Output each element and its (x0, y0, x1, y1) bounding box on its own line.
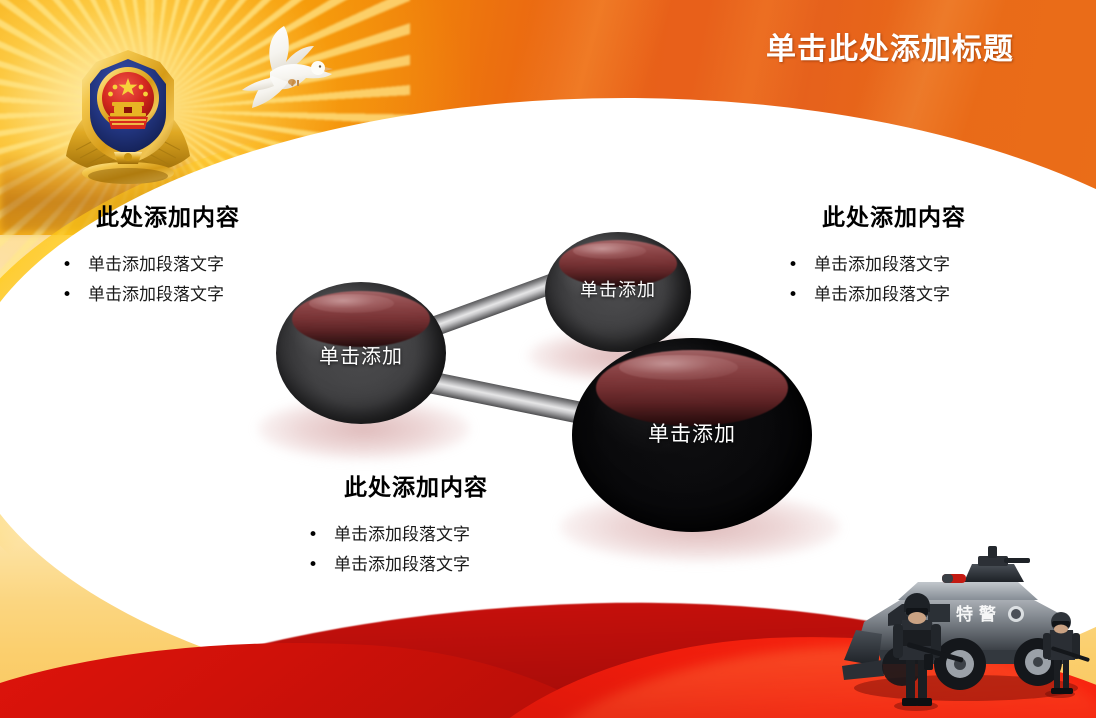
bullet-icon: • (308, 550, 334, 580)
list-item[interactable]: • 单击添加段落文字 (788, 250, 966, 280)
sphere-gloss-highlight (596, 350, 788, 426)
bullet-icon: • (788, 250, 814, 280)
list-item-label: 单击添加段落文字 (334, 520, 470, 550)
content-list-bottom: • 单击添加段落文字 • 单击添加段落文字 (308, 520, 488, 580)
bullet-icon: • (62, 280, 88, 310)
list-item-label: 单击添加段落文字 (88, 280, 224, 310)
armored-police-vehicle-image: 特 警 (838, 538, 1096, 718)
content-list-right: • 单击添加段落文字 • 单击添加段落文字 (788, 250, 966, 310)
content-block-bottom: 此处添加内容 • 单击添加段落文字 • 单击添加段落文字 (344, 468, 488, 580)
list-item[interactable]: • 单击添加段落文字 (308, 550, 488, 580)
list-item-label: 单击添加段落文字 (334, 550, 470, 580)
sphere-node-bottom-right[interactable]: 单击添加 (572, 338, 812, 532)
content-heading-left: 此处添加内容 (96, 198, 240, 232)
sphere-node-left[interactable]: 单击添加 (276, 282, 446, 424)
sphere-label-bottom-right: 单击添加 (572, 418, 812, 448)
bullet-icon: • (308, 520, 334, 550)
bullet-icon: • (62, 250, 88, 280)
svg-text:特 警: 特 警 (956, 604, 996, 625)
content-block-right: 此处添加内容 • 单击添加段落文字 • 单击添加段落文字 (822, 198, 966, 310)
content-heading-right: 此处添加内容 (822, 198, 966, 232)
list-item-label: 单击添加段落文字 (814, 280, 950, 310)
presentation-slide: 单击此处添加标题 单击添加 单击添加 单击添加 此处添加内容 • (0, 0, 1096, 718)
list-item-label: 单击添加段落文字 (814, 250, 950, 280)
list-item-label: 单击添加段落文字 (88, 250, 224, 280)
list-item[interactable]: • 单击添加段落文字 (308, 520, 488, 550)
bullet-icon: • (788, 280, 814, 310)
content-heading-bottom: 此处添加内容 (344, 468, 488, 502)
content-list-left: • 单击添加段落文字 • 单击添加段落文字 (62, 250, 240, 310)
list-item[interactable]: • 单击添加段落文字 (788, 280, 966, 310)
content-block-left: 此处添加内容 • 单击添加段落文字 • 单击添加段落文字 (96, 198, 240, 310)
sphere-label-left: 单击添加 (276, 340, 446, 369)
sphere-node-top-right[interactable]: 单击添加 (545, 232, 691, 352)
list-item[interactable]: • 单击添加段落文字 (62, 250, 240, 280)
sphere-label-top-right: 单击添加 (545, 276, 691, 302)
list-item[interactable]: • 单击添加段落文字 (62, 280, 240, 310)
sphere-gloss-highlight (292, 291, 430, 347)
